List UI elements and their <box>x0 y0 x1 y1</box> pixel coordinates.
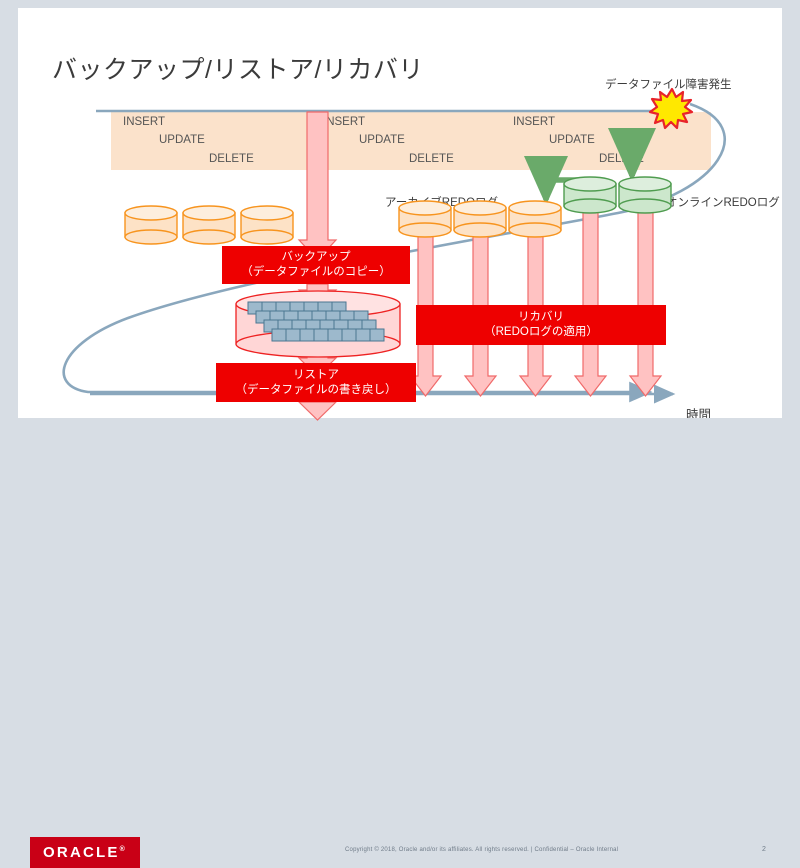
overlay-layer <box>18 8 782 418</box>
oracle-wordmark: ORACLE <box>43 844 120 861</box>
oracle-logo: ORACLE® <box>30 837 140 868</box>
page-number: 2 <box>762 846 766 853</box>
footer-copyright: Copyright © 2018, Oracle and/or its affi… <box>345 847 618 853</box>
starburst-icon <box>650 89 692 128</box>
slide-canvas: バックアップ/リストア/リカバリ INSERT UPDATE DELETE IN… <box>18 8 782 418</box>
slide-footer: ORACLE® Copyright © 2018, Oracle and/or … <box>0 418 800 450</box>
oracle-trademark: ® <box>120 846 127 853</box>
